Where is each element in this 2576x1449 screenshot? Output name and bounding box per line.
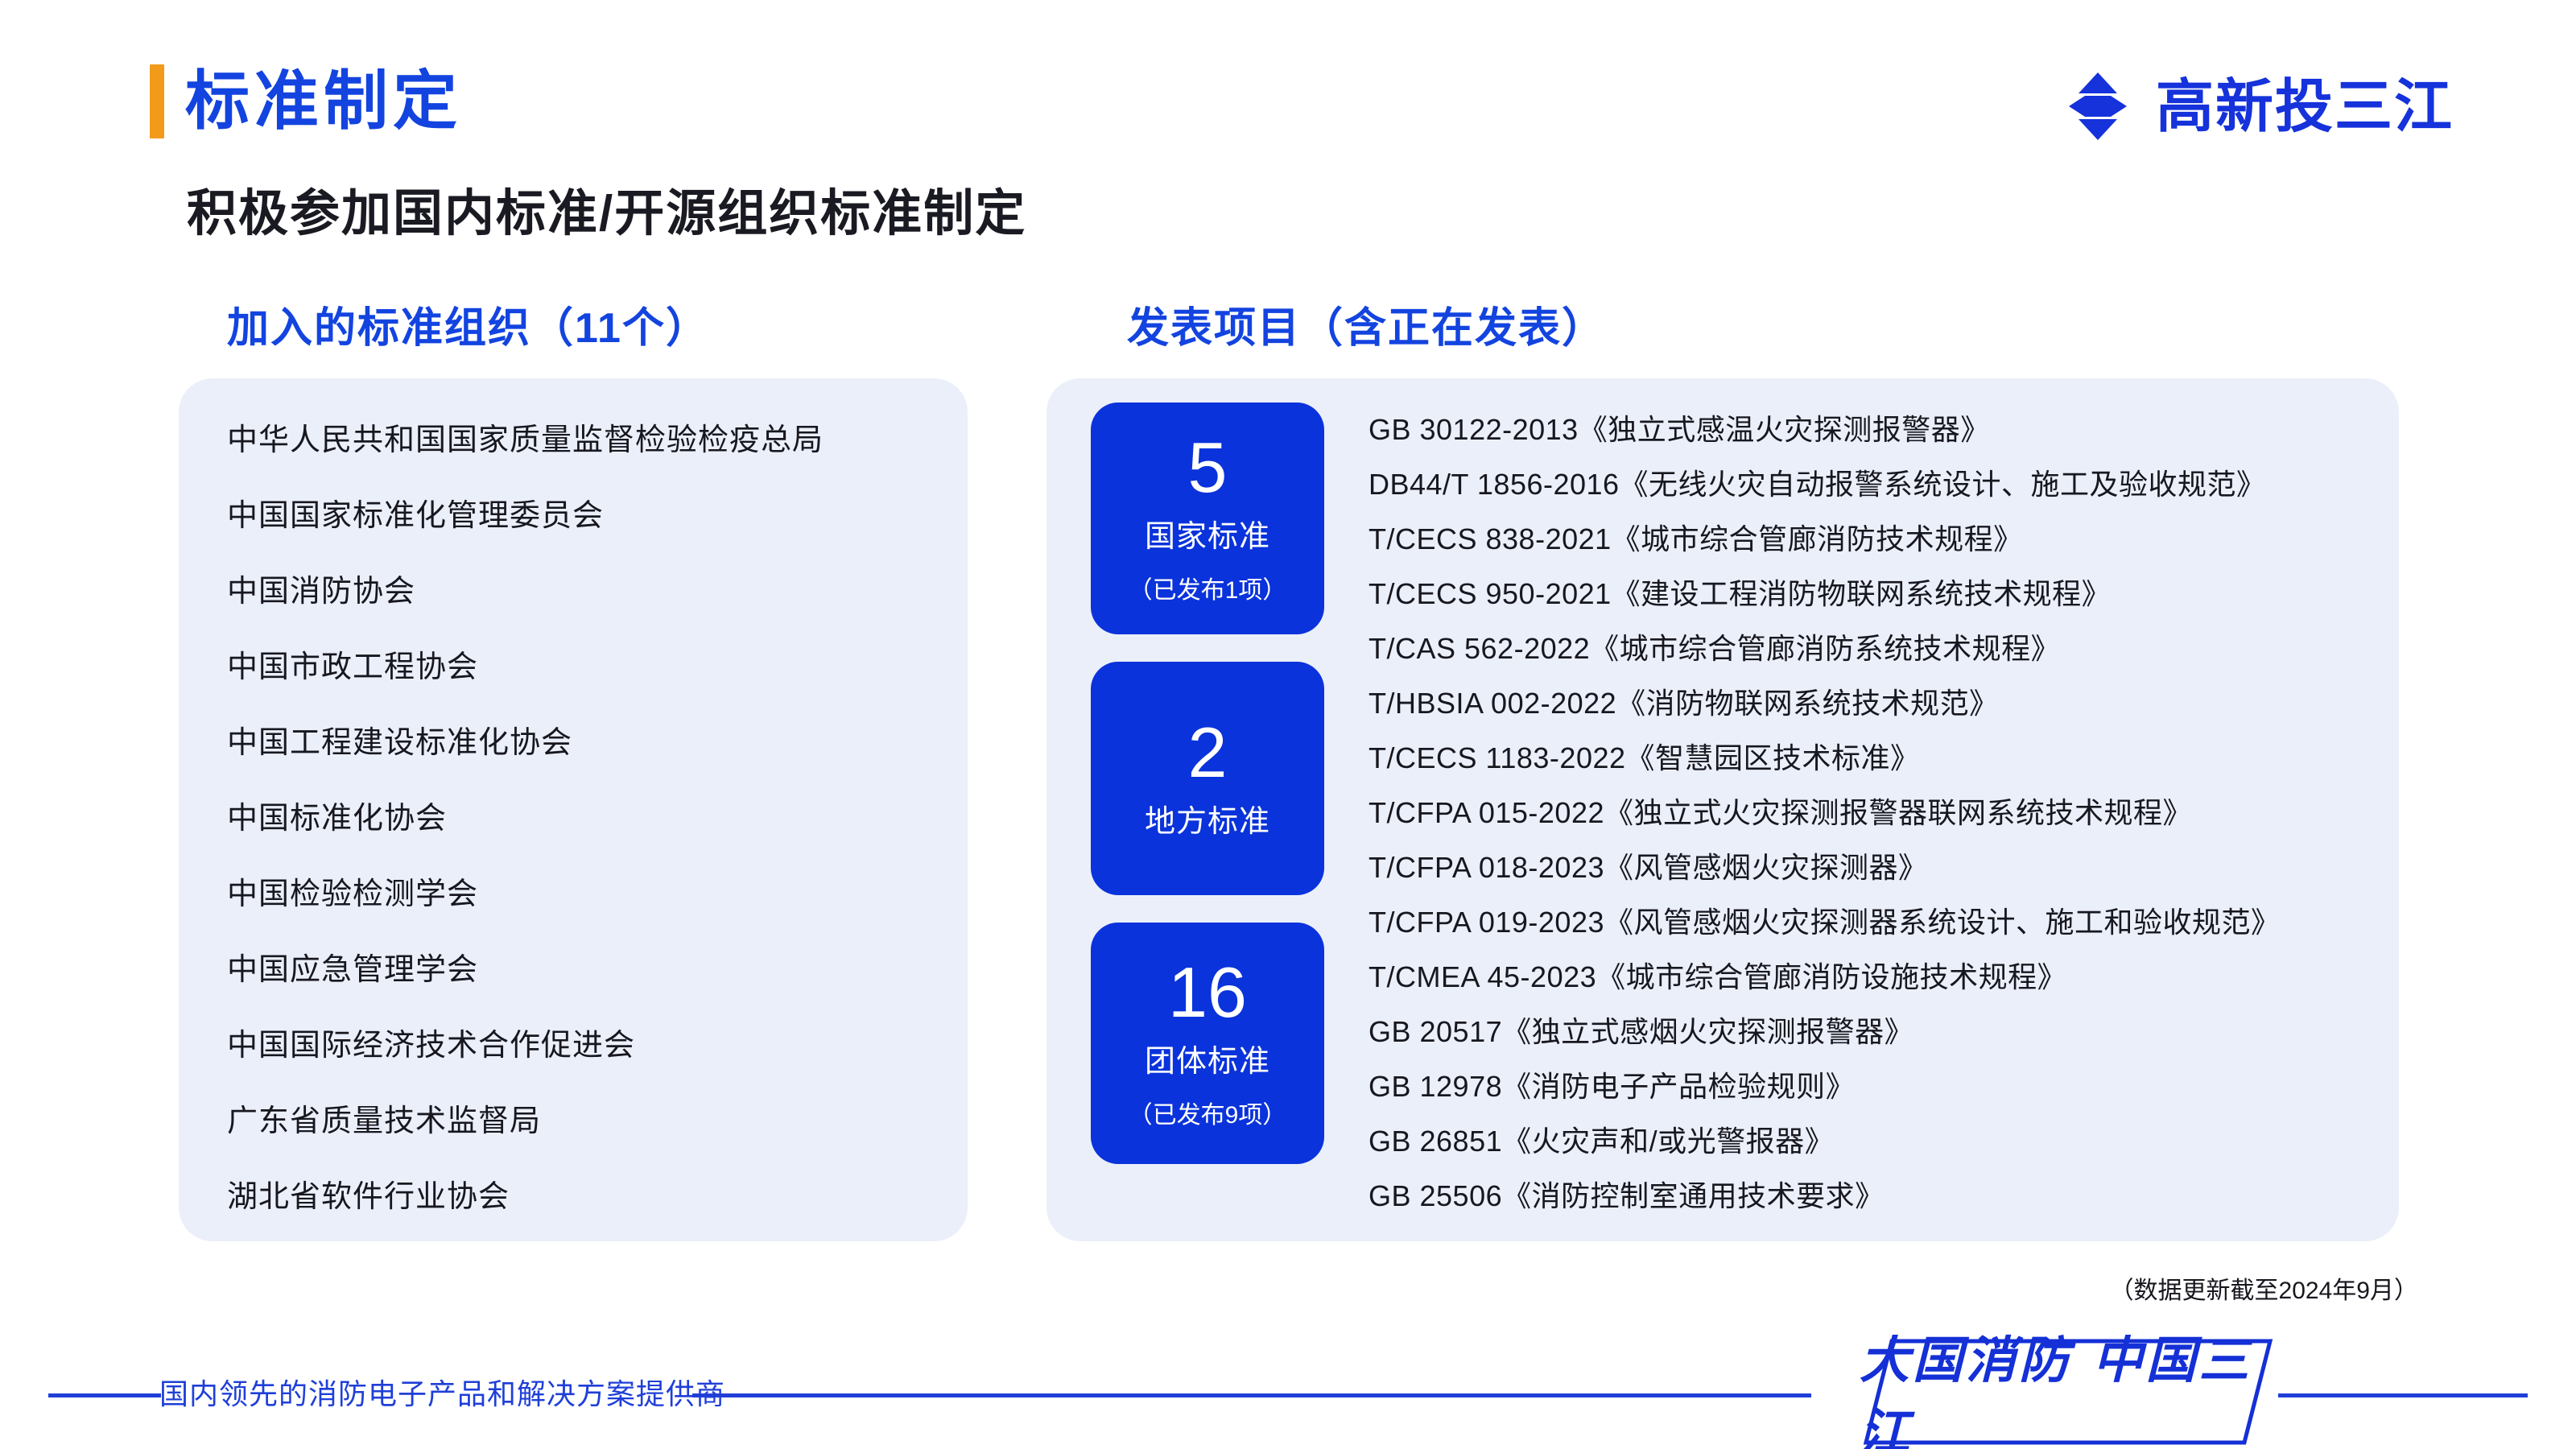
footer-rule-middle — [692, 1393, 1811, 1397]
slide-root: 标准制定 积极参加国内标准/开源组织标准制定 高新投三江 加入的标准组织（11个… — [0, 0, 2576, 1449]
stat-card-group: 5 国家标准 （已发布1项） 2 地方标准 16 团体标准 （已发布9项） — [1091, 402, 1324, 1191]
brand-name: 高新投三江 — [2156, 77, 2454, 135]
brand-logo: 高新投三江 — [2061, 69, 2454, 143]
stat-label: 国家标准 — [1145, 511, 1270, 555]
list-item: GB 25506《消防控制室通用技术要求》 — [1368, 1169, 2383, 1224]
list-item: GB 20517《独立式感烟火灾探测报警器》 — [1368, 1005, 2383, 1059]
list-item: 中国市政工程协会 — [227, 630, 952, 705]
list-item: 广东省质量技术监督局 — [227, 1084, 952, 1159]
page-subtitle: 积极参加国内标准/开源组织标准制定 — [187, 172, 1026, 245]
list-item: T/CFPA 019-2023《风管感烟火灾探测器系统设计、施工和验收规范》 — [1368, 895, 2383, 950]
stat-card-national: 5 国家标准 （已发布1项） — [1091, 402, 1324, 634]
slide-footer: 国内领先的消防电子产品和解决方案提供商 大国消防 中国三江 — [0, 1368, 2576, 1420]
list-item: DB44/T 1856-2016《无线火灾自动报警系统设计、施工及验收规范》 — [1368, 457, 2383, 512]
list-item: 湖北省软件行业协会 — [227, 1159, 952, 1235]
list-item: 中国国家标准化管理委员会 — [227, 478, 952, 554]
list-item: GB 26851《火灾声和/或光警报器》 — [1368, 1114, 2383, 1169]
footer-logo-text: 大国消防 中国三江 — [1860, 1331, 2278, 1449]
list-item: T/CECS 838-2021《城市综合管廊消防技术规程》 — [1368, 512, 2383, 567]
stat-number: 5 — [1188, 432, 1228, 503]
list-item: T/CFPA 015-2022《独立式火灾探测报警器联网系统技术规程》 — [1368, 786, 2383, 840]
section-heading-organizations: 加入的标准组织（11个） — [227, 294, 709, 354]
list-item: T/HBSIA 002-2022《消防物联网系统技术规范》 — [1368, 676, 2383, 731]
list-item: T/CMEA 45-2023《城市综合管廊消防设施技术规程》 — [1368, 950, 2383, 1005]
page-title: 标准制定 — [185, 69, 462, 134]
list-item: T/CAS 562-2022《城市综合管廊消防系统技术规程》 — [1368, 621, 2383, 676]
list-item: 中国消防协会 — [227, 554, 952, 630]
stat-card-local: 2 地方标准 — [1091, 662, 1324, 895]
footer-slogan-logo: 大国消防 中国三江 — [1860, 1331, 2278, 1449]
footer-rule-right — [2278, 1393, 2528, 1397]
diamond-arrows-icon — [2061, 69, 2135, 143]
footer-rule-left — [48, 1393, 161, 1397]
list-item: 中国国际经济技术合作促进会 — [227, 1008, 952, 1084]
stat-number: 16 — [1168, 957, 1247, 1028]
stat-note: （已发布1项） — [1129, 570, 1287, 605]
stat-label: 地方标准 — [1145, 796, 1270, 840]
stat-card-group-standard: 16 团体标准 （已发布9项） — [1091, 923, 1324, 1164]
list-item: 中国检验检测学会 — [227, 857, 952, 932]
stat-note: （已发布9项） — [1129, 1095, 1287, 1130]
list-item: T/CECS 1183-2022《智慧园区技术标准》 — [1368, 731, 2383, 786]
stat-label: 团体标准 — [1145, 1036, 1270, 1080]
stat-number: 2 — [1188, 717, 1228, 788]
list-item: 中国标准化协会 — [227, 781, 952, 857]
list-item: 中华人民共和国国家质量监督检验检疫总局 — [227, 402, 952, 478]
title-accent-bar — [150, 64, 164, 138]
section-heading-publications: 发表项目（含正在发表） — [1127, 294, 1605, 354]
slide-header: 标准制定 — [150, 64, 462, 138]
list-item: T/CFPA 018-2023《风管感烟火灾探测器》 — [1368, 840, 2383, 895]
data-footnote: （数据更新截至2024年9月） — [2110, 1270, 2418, 1306]
list-item: 中国应急管理学会 — [227, 932, 952, 1008]
organization-list: 中华人民共和国国家质量监督检验检疫总局 中国国家标准化管理委员会 中国消防协会 … — [227, 402, 952, 1235]
footer-tagline: 国内领先的消防电子产品和解决方案提供商 — [159, 1368, 725, 1420]
list-item: 中国工程建设标准化协会 — [227, 705, 952, 781]
list-item: GB 12978《消防电子产品检验规则》 — [1368, 1059, 2383, 1114]
list-item: T/CECS 950-2021《建设工程消防物联网系统技术规程》 — [1368, 567, 2383, 621]
list-item: GB 30122-2013《独立式感温火灾探测报警器》 — [1368, 402, 2383, 457]
standards-list: GB 30122-2013《独立式感温火灾探测报警器》 DB44/T 1856-… — [1368, 402, 2383, 1224]
